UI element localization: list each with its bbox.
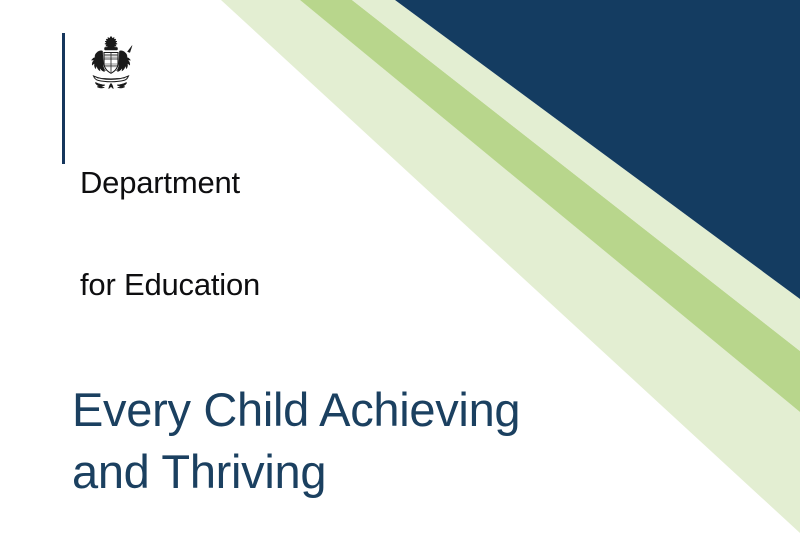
cover-title: Every Child Achieving and Thriving <box>72 379 672 501</box>
department-name: Department for Education <box>80 98 260 371</box>
band-green-main <box>300 0 800 412</box>
masthead-vertical-rule <box>62 33 65 164</box>
masthead-body: Department for Education <box>80 33 260 371</box>
band-pale-green-inner <box>352 0 800 351</box>
department-name-line2: for Education <box>80 268 260 302</box>
department-for-education-logo: Department for Education <box>62 33 260 371</box>
royal-coat-of-arms-crest-icon <box>80 33 142 91</box>
band-green <box>352 0 800 351</box>
document-cover-page: Department for Education Every Child Ach… <box>0 0 800 533</box>
department-name-line1: Department <box>80 166 260 200</box>
band-navy-corner <box>395 0 800 299</box>
cover-title-line2: and Thriving <box>72 441 672 502</box>
cover-title-line1: Every Child Achieving <box>72 379 672 440</box>
